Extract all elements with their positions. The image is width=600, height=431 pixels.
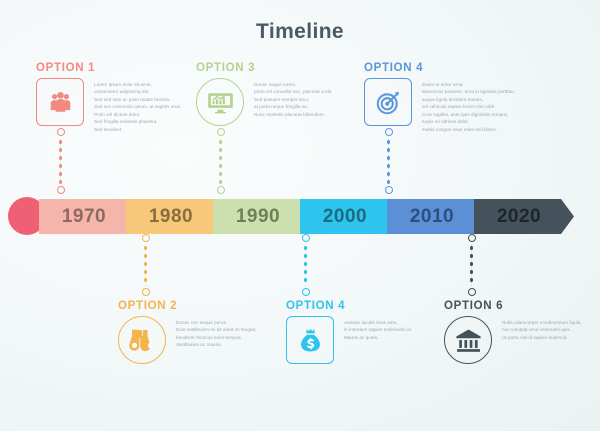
option-block-option-3[interactable]: OPTION 3 Donec augue lorem, porta vel co… — [196, 62, 346, 126]
option-label: OPTION 4 — [286, 300, 436, 312]
timeline-segment-2000[interactable]: 2000 — [300, 199, 400, 234]
page-title: Timeline — [0, 20, 600, 44]
option-label: OPTION 4 — [364, 62, 530, 74]
timeline-year-label: 2000 — [323, 206, 367, 228]
timeline-year-label: 1980 — [149, 206, 193, 228]
connector-dots — [469, 244, 474, 286]
option-block-option-4-top[interactable]: OPTION 4 Etiam ut tortor urna. Maecenas … — [364, 62, 530, 133]
connector-ring-bottom — [302, 288, 310, 296]
connector-option-1 — [56, 128, 65, 194]
option-description: Aenean iaculis risus ante, in interdum s… — [344, 316, 436, 341]
bank-building-icon — [444, 316, 492, 364]
connector-option-2 — [141, 234, 150, 296]
connector-dots — [58, 138, 63, 184]
option-body: Nulla ullamcorper condimentum ligula, no… — [444, 316, 584, 364]
connector-ring-bottom — [468, 288, 476, 296]
connector-dots — [218, 138, 223, 184]
connector-option-4-top — [384, 128, 393, 194]
target-dart-icon — [364, 78, 412, 126]
people-group-icon — [36, 78, 84, 126]
connector-option-6 — [467, 234, 476, 296]
option-block-option-1[interactable]: OPTION 1 Lorem ipsum dolor sit amet, con… — [36, 62, 186, 133]
connector-ring-top — [142, 234, 150, 242]
option-description: Donec nec neque purus. Duis vestibulum m… — [176, 316, 258, 349]
connector-dots — [143, 244, 148, 286]
connector-ring-bottom — [142, 288, 150, 296]
timeline-year-label: 1970 — [62, 206, 106, 228]
timeline-year-label: 2010 — [410, 206, 454, 228]
connector-ring-top — [468, 234, 476, 242]
timeline-segment-2020[interactable]: 2020 — [474, 199, 574, 234]
option-label: OPTION 6 — [444, 300, 584, 312]
connector-ring-top — [217, 128, 225, 136]
option-label: OPTION 2 — [118, 300, 258, 312]
timeline-bar: 1970 1980 1990 2000 2010 2020 — [8, 196, 592, 238]
connector-dots — [386, 138, 391, 184]
connector-dots — [303, 244, 308, 286]
connector-ring-top — [385, 128, 393, 136]
connector-ring-bottom — [217, 186, 225, 194]
option-block-option-2[interactable]: OPTION 2 Donec nec neque purus. Duis ves… — [118, 300, 258, 364]
timeline-segment-1980[interactable]: 1980 — [126, 199, 226, 234]
option-label: OPTION 1 — [36, 62, 186, 74]
option-block-option-4-bottom[interactable]: OPTION 4 Aenean iaculis risus ante, in i… — [286, 300, 436, 364]
connector-ring-bottom — [57, 186, 65, 194]
connector-option-3 — [216, 128, 225, 194]
timeline-year-label: 1990 — [236, 206, 280, 228]
connector-ring-top — [302, 234, 310, 242]
connector-ring-bottom — [385, 186, 393, 194]
connector-ring-top — [57, 128, 65, 136]
infographic-canvas: Timeline OPTION 1 Lorem ipsum dolor sit … — [0, 0, 600, 431]
timeline-segment-1990[interactable]: 1990 — [213, 199, 313, 234]
option-body: Aenean iaculis risus ante, in interdum s… — [286, 316, 436, 364]
chart-monitor-icon — [196, 78, 244, 126]
timeline-segment-1970[interactable]: 1970 — [39, 199, 139, 234]
timeline-year-label: 2020 — [497, 206, 541, 228]
option-body: Donec nec neque purus. Duis vestibulum m… — [118, 316, 258, 364]
money-bag-icon — [286, 316, 334, 364]
option-body: Etiam ut tortor urna. Maecenas posuere, … — [364, 78, 530, 133]
option-description: Nulla ullamcorper condimentum ligula, no… — [502, 316, 584, 341]
option-description: Etiam ut tortor urna. Maecenas posuere, … — [422, 78, 530, 133]
binoculars-icon — [118, 316, 166, 364]
connector-option-4-bottom — [301, 234, 310, 296]
option-label: OPTION 3 — [196, 62, 346, 74]
option-block-option-6[interactable]: OPTION 6 Nulla ullamcorper condimentum l… — [444, 300, 584, 364]
option-description: Donec augue lorem, porta vel convallis n… — [254, 78, 346, 118]
option-description: Lorem ipsum dolor sit amet, consectetur … — [94, 78, 186, 133]
timeline-segment-2010[interactable]: 2010 — [387, 199, 487, 234]
option-body: Donec augue lorem, porta vel convallis n… — [196, 78, 346, 126]
option-body: Lorem ipsum dolor sit amet, consectetur … — [36, 78, 186, 133]
